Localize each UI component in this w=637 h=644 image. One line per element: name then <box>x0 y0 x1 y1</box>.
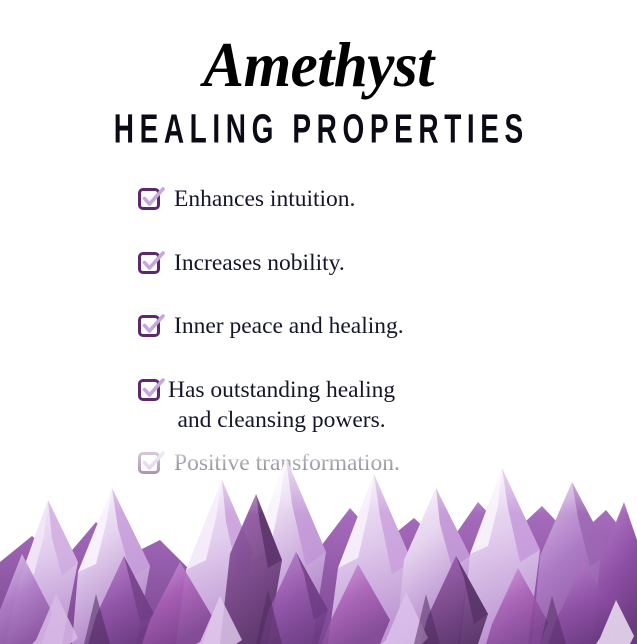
checkbox-cell <box>0 184 160 210</box>
checkbox-checked-icon <box>138 188 160 210</box>
checkbox-checked-icon <box>138 379 160 401</box>
amethyst-crystal-cluster-photo <box>0 444 637 644</box>
crystal-top-fade <box>0 444 637 514</box>
poster-canvas: Amethyst HEALING PROPERTIES Enhances int… <box>0 0 637 644</box>
checkbox-checked-icon <box>138 252 160 274</box>
checkbox-cell <box>0 375 160 401</box>
checkbox-cell <box>0 311 160 337</box>
check-mark-icon <box>140 376 166 402</box>
list-item: Increases nobility. <box>0 248 637 279</box>
page-title: Amethyst <box>10 34 628 97</box>
crystal-cluster-graphic <box>0 444 637 644</box>
list-item-label: Enhances intuition. <box>160 184 355 215</box>
list-item-label: Increases nobility. <box>160 248 345 279</box>
check-mark-icon <box>140 249 166 275</box>
list-item: Enhances intuition. <box>0 184 637 215</box>
checkbox-checked-icon <box>138 315 160 337</box>
list-item: Inner peace and healing. <box>0 311 637 342</box>
check-mark-icon <box>140 312 166 338</box>
header: Amethyst HEALING PROPERTIES <box>0 34 637 144</box>
checkbox-cell <box>0 248 160 274</box>
list-item-label: Inner peace and healing. <box>160 311 404 342</box>
list-item-label: Has outstanding healing and cleansing po… <box>160 375 395 436</box>
page-subtitle: HEALING PROPERTIES <box>64 109 574 150</box>
check-mark-icon <box>140 185 166 211</box>
list-item: Has outstanding healing and cleansing po… <box>0 375 637 436</box>
